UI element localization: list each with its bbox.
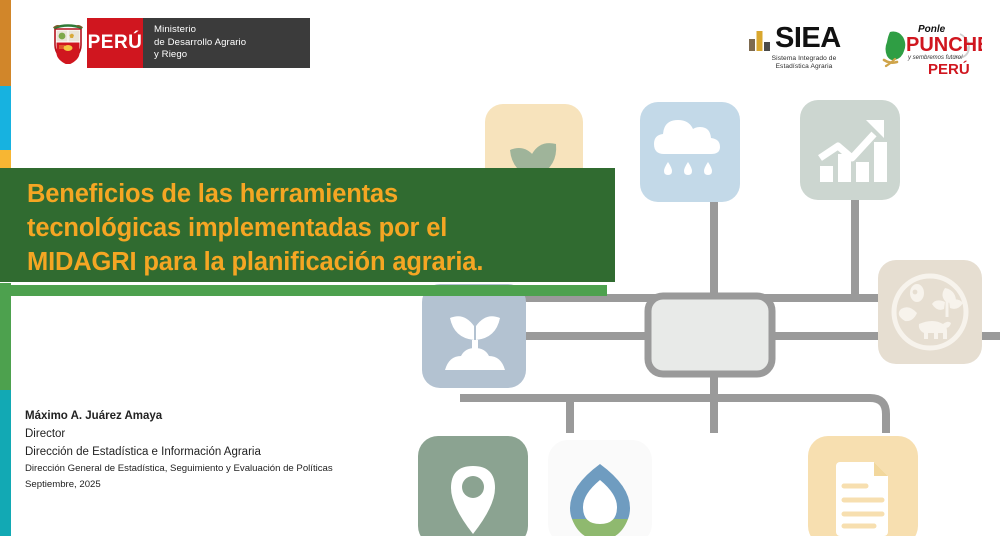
- peru-coat-of-arms-icon: [49, 18, 87, 68]
- node-agriculture: [878, 260, 982, 364]
- siea-subtitle-1: Sistema Integrado de: [748, 55, 860, 63]
- page-title: Beneficios de las herramientas tecnológi…: [27, 178, 597, 280]
- accent-bar-orange: [0, 0, 11, 86]
- slide-canvas: PERÚ Ministerio de Desarrollo Agrario y …: [0, 0, 1000, 536]
- peru-label: PERÚ: [88, 32, 143, 54]
- punche-line-2: PUNCHE: [906, 34, 982, 56]
- accent-bar-green: [0, 283, 11, 390]
- node-seedling: [422, 284, 526, 388]
- presentation-date: Septiembre, 2025: [25, 477, 455, 492]
- hub-node: [648, 296, 772, 374]
- author-direction: Dirección de Estadística e Información A…: [25, 444, 455, 462]
- accent-bar-amber: [0, 150, 11, 169]
- ministry-line-2: de Desarrollo Agrario: [154, 37, 298, 50]
- node-rain-cloud: [640, 102, 740, 202]
- node-document: [808, 436, 918, 536]
- accent-bar-cyan: [0, 86, 11, 150]
- ministry-name-block: Ministerio de Desarrollo Agrario y Riego: [143, 18, 310, 68]
- ponle-punche-peru-logo: Ponle PUNCHE y sembremos futuro! PERÚ: [878, 16, 982, 78]
- accent-bar-teal: [0, 390, 11, 536]
- siea-logo: SIEA Sistema Integrado de Estadística Ag…: [748, 20, 860, 71]
- title-line-2: tecnológicas implementadas por el: [27, 214, 447, 242]
- title-line-3: MIDAGRI para la planificación agraria.: [27, 248, 483, 276]
- author-block: Máximo A. Juárez Amaya Director Direcció…: [25, 408, 455, 492]
- author-name: Máximo A. Juárez Amaya: [25, 408, 455, 426]
- node-water-drop: [548, 440, 652, 536]
- document-icon: [836, 462, 888, 536]
- slide-title-box: Beneficios de las herramientas tecnológi…: [0, 168, 615, 282]
- peru-map-icon: [884, 32, 905, 66]
- midagri-logo: PERÚ Ministerio de Desarrollo Agrario y …: [49, 18, 310, 68]
- ministry-line-1: Ministerio: [154, 24, 298, 37]
- siea-subtitle-2: Estadística Agraria: [748, 63, 860, 71]
- node-growth-chart: [800, 100, 900, 200]
- icon-network-diagram: [400, 88, 1000, 536]
- peru-wordmark: PERÚ: [87, 18, 143, 68]
- title-line-1: Beneficios de las herramientas: [27, 180, 398, 208]
- bar-chart-icon: [748, 22, 772, 52]
- punche-line-4: PERÚ: [928, 60, 970, 78]
- siea-acronym: SIEA: [775, 25, 841, 52]
- author-role: Director: [25, 426, 455, 444]
- ministry-line-3: y Riego: [154, 49, 298, 62]
- title-underline-bar: [11, 285, 607, 296]
- author-general-direction: Dirección General de Estadística, Seguim…: [25, 461, 455, 476]
